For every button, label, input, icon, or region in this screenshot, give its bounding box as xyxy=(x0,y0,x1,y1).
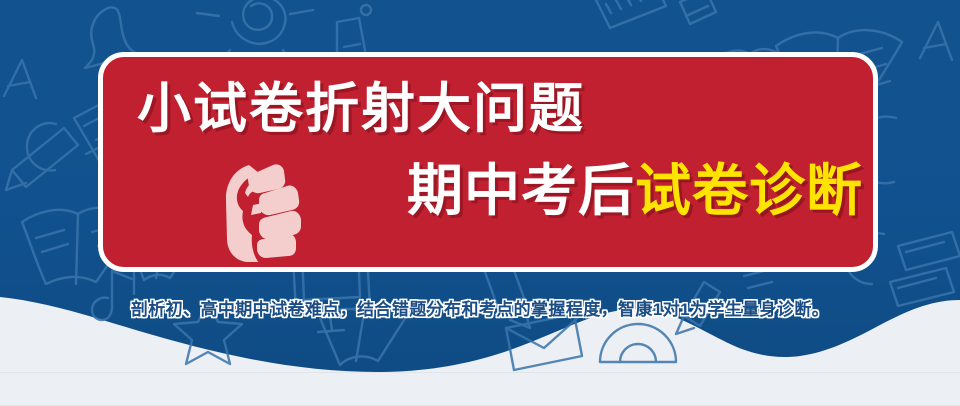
headline-line-2-white: 期中考后 xyxy=(407,159,635,222)
banner-subtitle: 剖析初、高中期中试卷难点，结合错题分布和考点的掌握程度，智康1对1为学生量身诊断… xyxy=(0,298,960,322)
headline-line-1: 小试卷折射大问题 xyxy=(133,79,853,139)
headline-line-2: 期中考后试卷诊断 xyxy=(103,160,873,222)
divider-upper xyxy=(0,372,960,373)
headline-card: 小试卷折射大问题 期中考后试卷诊断 xyxy=(98,52,878,272)
headline-line-2-highlight: 试卷诊断 xyxy=(635,159,863,222)
promo-banner: 小试卷折射大问题 期中考后试卷诊断 剖析初、高中期中试卷难点，结合错题分布和考点… xyxy=(0,0,960,406)
